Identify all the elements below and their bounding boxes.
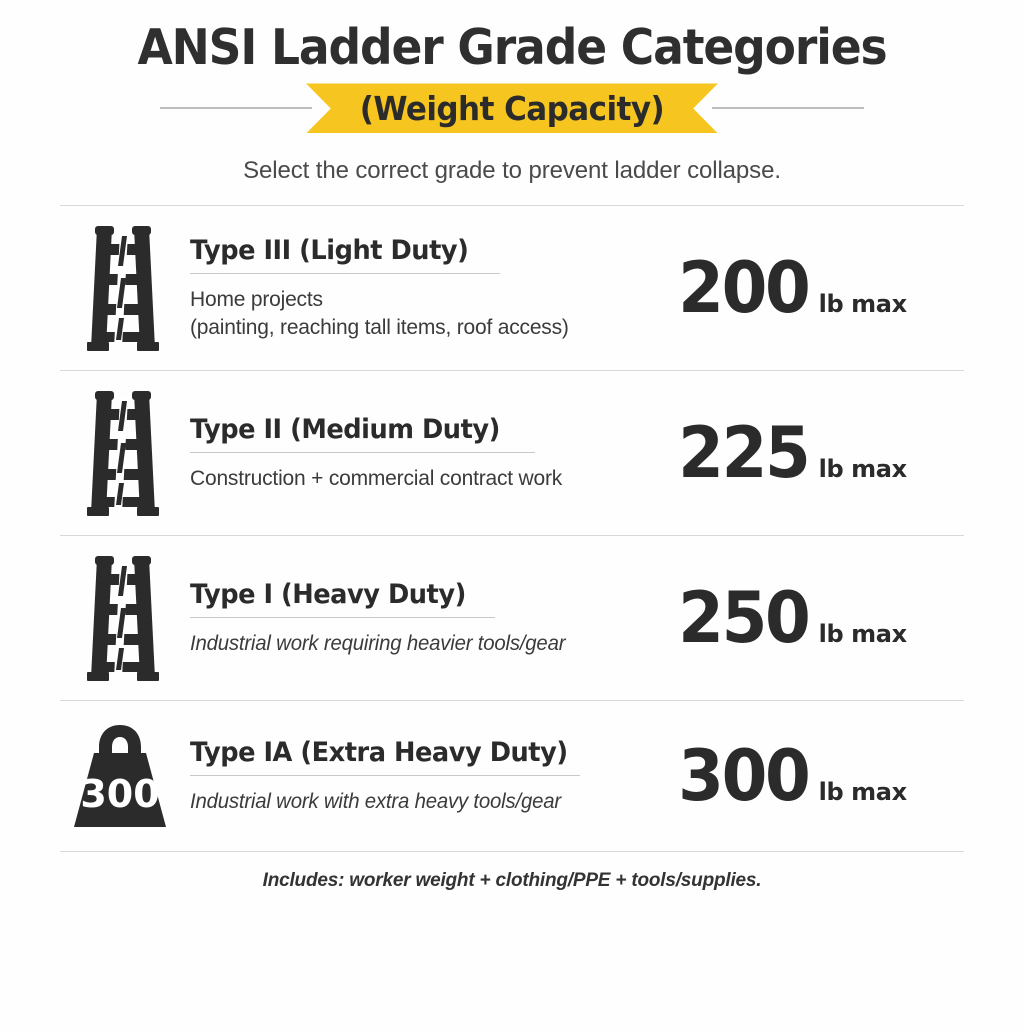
weight-icon: 300 — [60, 717, 180, 835]
step-ladder-icon — [60, 552, 180, 684]
grade-description: Industrial work requiring heavier tools/… — [190, 630, 650, 658]
grade-description: Construction + commercial contract work — [190, 465, 664, 493]
footer-note: Includes: worker weight + clothing/PPE +… — [0, 870, 1024, 892]
capacity-value: 225 lb max — [664, 418, 964, 488]
header: ANSI Ladder Grade Categories (Weight Cap… — [0, 0, 1024, 185]
capacity-value: 200 lb max — [664, 253, 964, 323]
grade-list: Type III (Light Duty) Home projects (pai… — [0, 205, 1024, 852]
step-ladder-icon — [60, 222, 180, 354]
grade-title-underline — [190, 452, 535, 453]
grade-title: Type II (Medium Duty) — [190, 414, 640, 445]
capacity-number: 225 — [678, 418, 808, 488]
capacity-number: 300 — [678, 741, 808, 811]
ribbon-rule-left — [160, 107, 312, 109]
grade-description: Industrial work with extra heavy tools/g… — [190, 788, 650, 816]
grade-row: Type III (Light Duty) Home projects (pai… — [0, 206, 1024, 370]
grade-title-underline — [190, 273, 500, 274]
step-ladder-icon — [60, 387, 180, 519]
grade-info: Type I (Heavy Duty) Industrial work requ… — [180, 579, 664, 658]
infographic-page: ANSI Ladder Grade Categories (Weight Cap… — [0, 0, 1024, 1032]
capacity-unit: lb max — [819, 290, 907, 318]
weight-icon-label: 300 — [80, 772, 159, 816]
capacity-value: 250 lb max — [664, 583, 964, 653]
grade-row: 300 Type IA (Extra Heavy Duty) Industria… — [0, 701, 1024, 851]
grade-info: Type III (Light Duty) Home projects (pai… — [180, 235, 664, 343]
ribbon-banner-row: (Weight Capacity) — [0, 81, 1024, 135]
capacity-number: 200 — [678, 253, 808, 323]
capacity-unit: lb max — [819, 455, 907, 483]
grade-description-line: (painting, reaching tall items, roof acc… — [190, 314, 664, 342]
capacity-unit: lb max — [819, 778, 907, 806]
grade-title-underline — [190, 775, 580, 776]
grade-title: Type IA (Extra Heavy Duty) — [190, 737, 640, 768]
grade-description-line: Home projects — [190, 286, 664, 314]
ribbon-label: (Weight Capacity) — [360, 89, 664, 128]
grade-row: Type II (Medium Duty) Construction + com… — [0, 371, 1024, 535]
grade-title-underline — [190, 617, 495, 618]
grade-description: Home projects (painting, reaching tall i… — [190, 286, 664, 343]
capacity-value: 300 lb max — [664, 741, 964, 811]
ribbon-rule-right — [712, 107, 864, 109]
capacity-number: 250 — [678, 583, 808, 653]
grade-title: Type III (Light Duty) — [190, 235, 640, 266]
grade-info: Type II (Medium Duty) Construction + com… — [180, 414, 664, 493]
grade-info: Type IA (Extra Heavy Duty) Industrial wo… — [180, 737, 664, 816]
ribbon-banner: (Weight Capacity) — [306, 83, 718, 133]
grade-title: Type I (Heavy Duty) — [190, 579, 640, 610]
grade-row: Type I (Heavy Duty) Industrial work requ… — [0, 536, 1024, 700]
divider-bottom — [60, 851, 964, 852]
page-subtitle: Select the correct grade to prevent ladd… — [0, 157, 1024, 185]
page-title: ANSI Ladder Grade Categories — [36, 22, 988, 73]
capacity-unit: lb max — [819, 620, 907, 648]
